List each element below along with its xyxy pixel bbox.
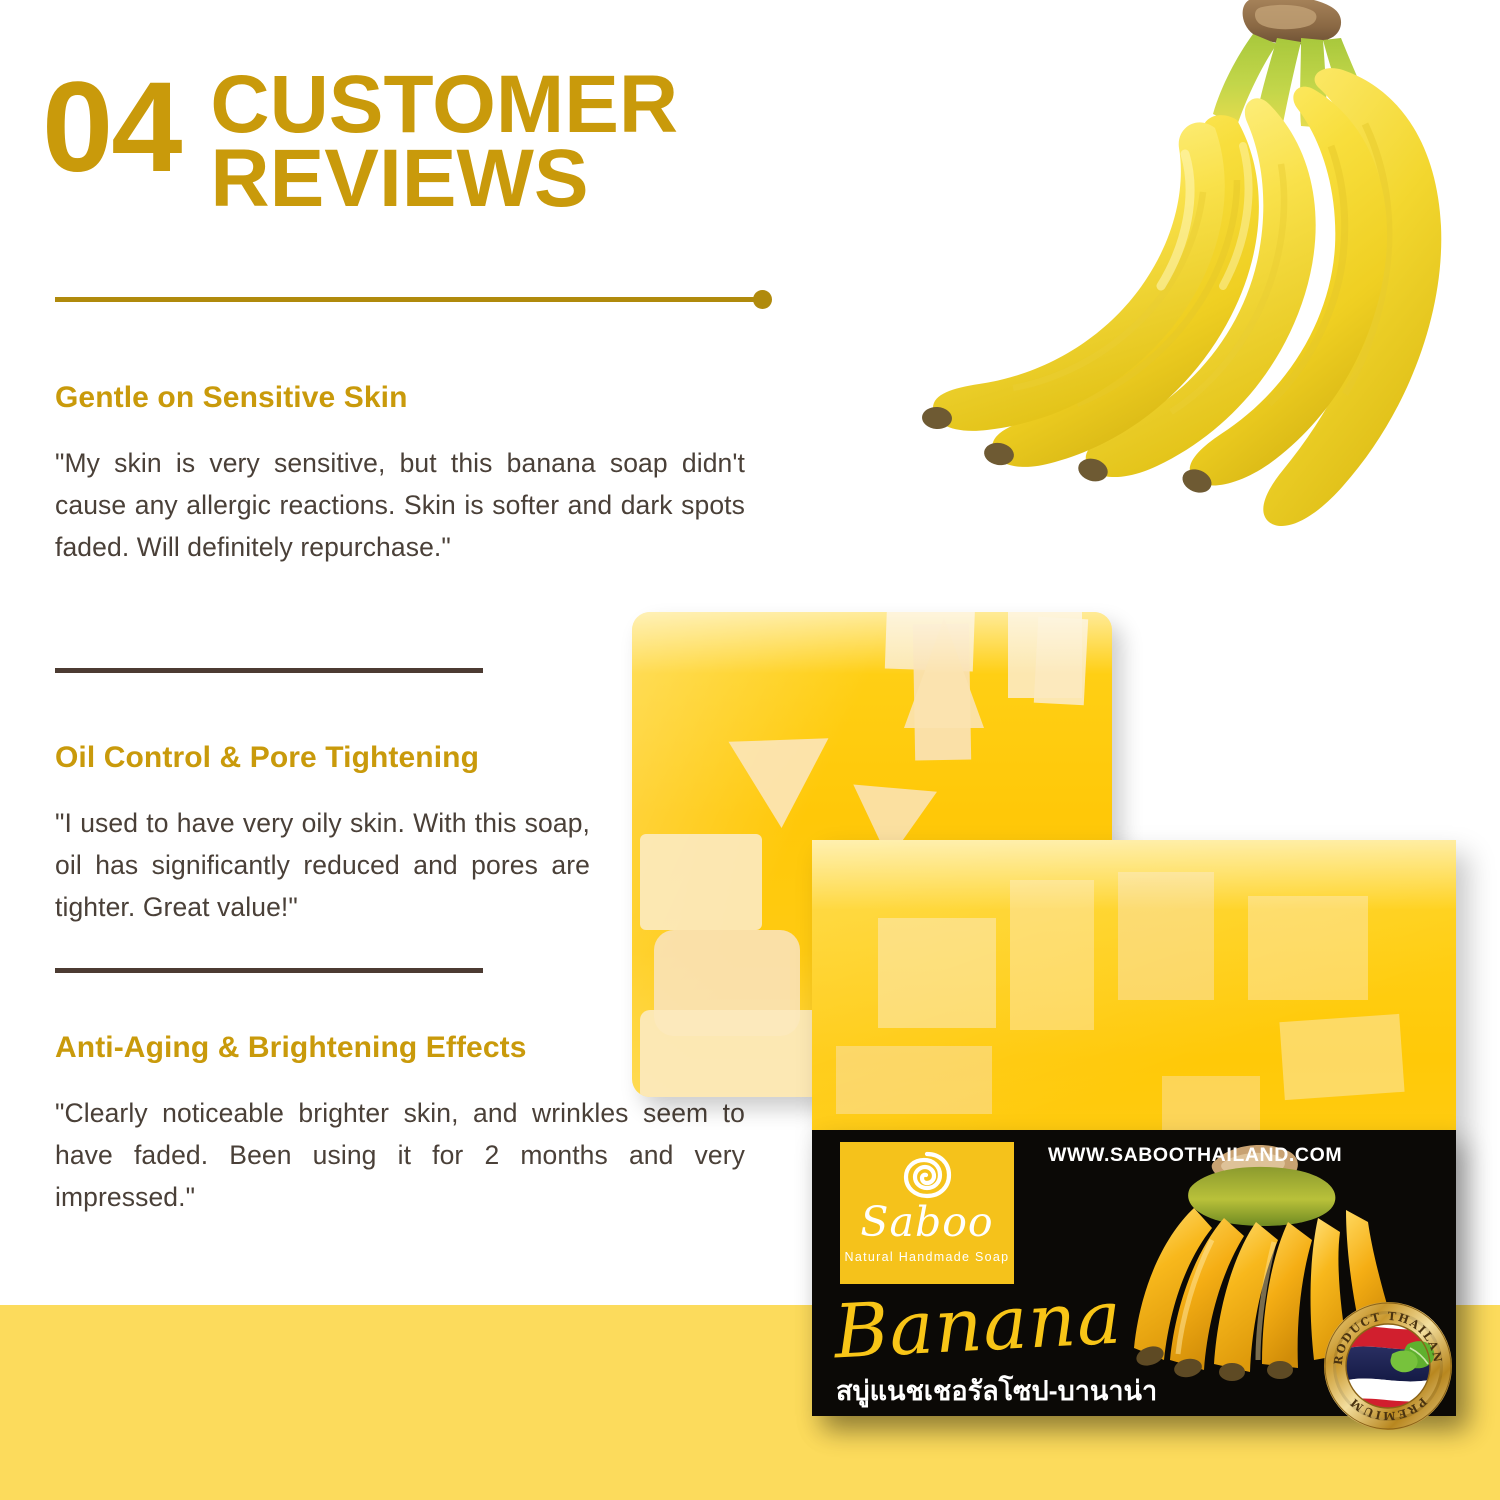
section-number: 04 (42, 72, 180, 184)
brand-name: Saboo (840, 1202, 1014, 1243)
header-rule-bar (55, 297, 760, 302)
soap-inclusion (728, 738, 831, 829)
brand-logo-panel: Saboo Natural Handmade Soap (840, 1142, 1014, 1284)
soap-inclusion (836, 1046, 992, 1114)
product-name-thai: สบู่แนชเชอรัลโซป-บานาน่า (836, 1376, 1157, 1406)
review-heading: Gentle on Sensitive Skin (55, 380, 745, 416)
review-body: "My skin is very sensitive, but this ban… (55, 442, 745, 568)
review-body: "I used to have very oily skin. With thi… (55, 802, 590, 928)
thailand-seal-icon: PRODUCT THAILAND PREMIUM (1322, 1300, 1454, 1432)
review-divider (55, 668, 483, 673)
website-url: WWW.SABOOTHAILAND.COM (1048, 1144, 1342, 1167)
banana-bunch-photo-icon (845, 0, 1500, 604)
review-body: "Clearly noticeable brighter skin, and w… (55, 1092, 745, 1218)
soap-inclusion (640, 834, 762, 930)
section-header: 04 CUSTOMER REVIEWS (42, 72, 678, 216)
review-item: Gentle on Sensitive Skin "My skin is ver… (55, 380, 745, 568)
soap-inclusion (1279, 1014, 1404, 1100)
soap-inclusion (1010, 880, 1094, 1030)
infographic-canvas: 04 CUSTOMER REVIEWS Gentle on Sensitive … (0, 0, 1500, 1500)
header-rule (55, 296, 773, 303)
review-heading: Oil Control & Pore Tightening (55, 740, 595, 776)
soap-inclusion (904, 618, 984, 728)
page-title: CUSTOMER REVIEWS (210, 68, 678, 216)
soap-inclusion (1034, 617, 1088, 705)
soap-inclusion (1162, 1076, 1260, 1138)
brand-tagline: Natural Handmade Soap (840, 1250, 1014, 1264)
spiral-logo-icon (899, 1150, 955, 1202)
section-title-line2: REVIEWS (210, 142, 678, 216)
review-divider (55, 968, 483, 973)
rule-endpoint-dot-icon (753, 290, 772, 309)
soap-inclusion (1248, 896, 1368, 1000)
section-title-line1: CUSTOMER (210, 68, 678, 142)
product-name: Banana (832, 1281, 1124, 1370)
soap-inclusion (1118, 872, 1214, 1000)
review-item: Oil Control & Pore Tightening "I used to… (55, 740, 595, 928)
soap-inclusion (640, 1010, 840, 1097)
soap-inclusion (878, 918, 996, 1028)
